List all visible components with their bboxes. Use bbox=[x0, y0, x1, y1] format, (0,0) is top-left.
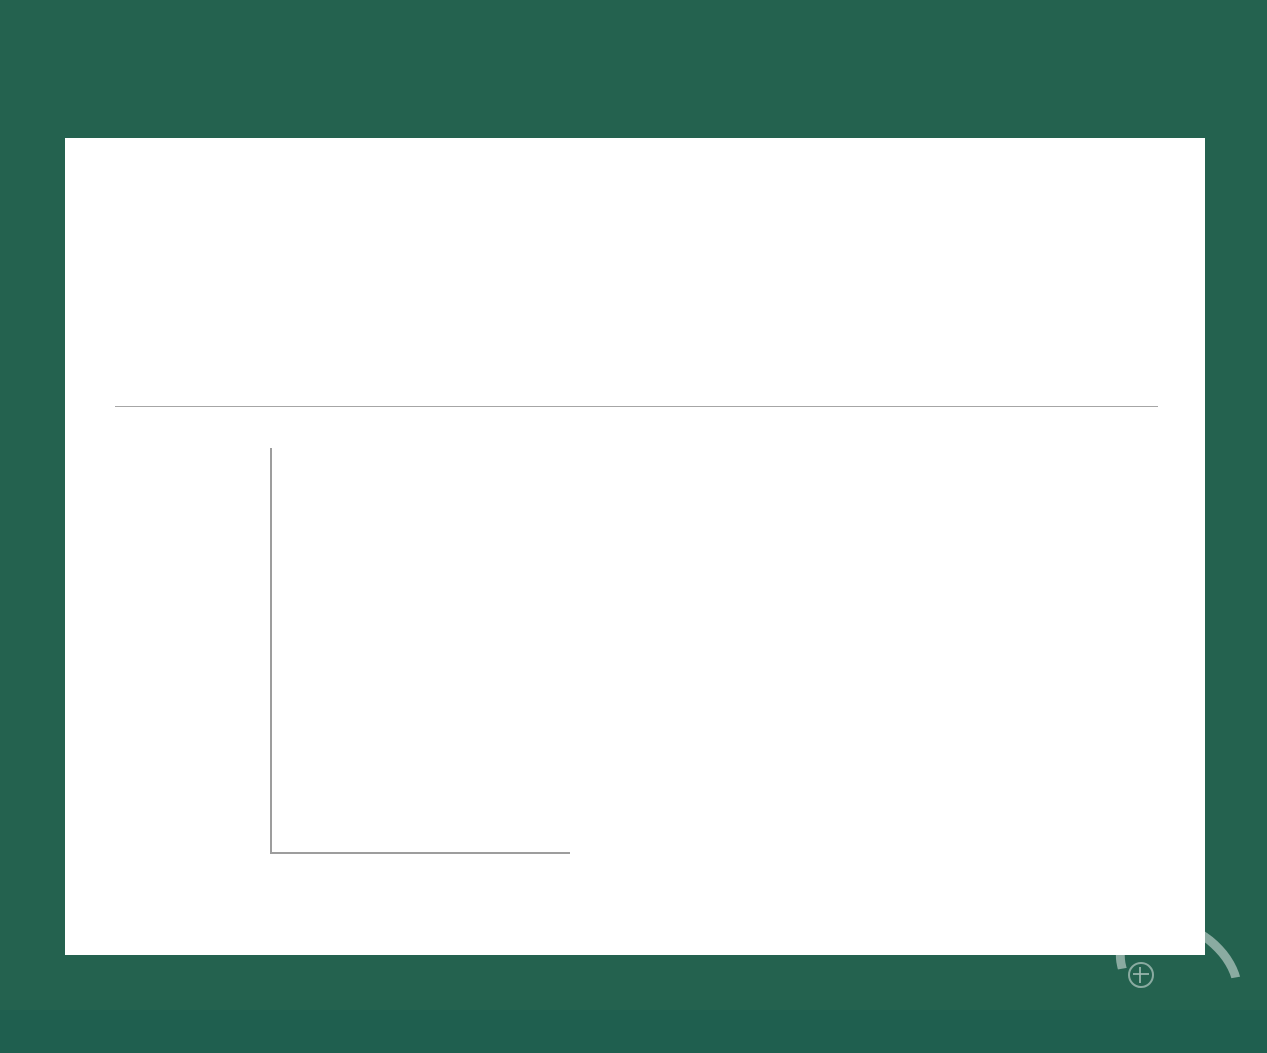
category-index-chart bbox=[65, 448, 605, 948]
overall-chart-legend bbox=[65, 160, 1205, 193]
content-panel bbox=[65, 138, 1205, 955]
category-chart-yaxis bbox=[270, 448, 272, 852]
legend-swatch-previous bbox=[655, 170, 670, 185]
pie-legend-item-other[interactable] bbox=[1065, 543, 1089, 570]
slide-root bbox=[0, 0, 1267, 1010]
legend-swatch-current bbox=[593, 170, 608, 185]
crosshair-icon bbox=[1128, 962, 1154, 988]
overall-index-chart bbox=[65, 216, 1205, 376]
legend-item-previous[interactable] bbox=[655, 162, 677, 193]
pie-disc[interactable] bbox=[635, 500, 981, 846]
pie-legend-swatch-other bbox=[1065, 547, 1081, 563]
category-chart-xaxis-line bbox=[270, 852, 570, 854]
model-share-chart bbox=[635, 438, 1205, 948]
legend-item-current[interactable] bbox=[593, 162, 615, 193]
pie-legend-item-2021[interactable] bbox=[1065, 715, 1089, 742]
overall-chart-axis-line bbox=[115, 406, 1158, 407]
pie-legend-swatch-2021 bbox=[1065, 719, 1081, 735]
overall-chart-plot bbox=[115, 226, 1158, 336]
